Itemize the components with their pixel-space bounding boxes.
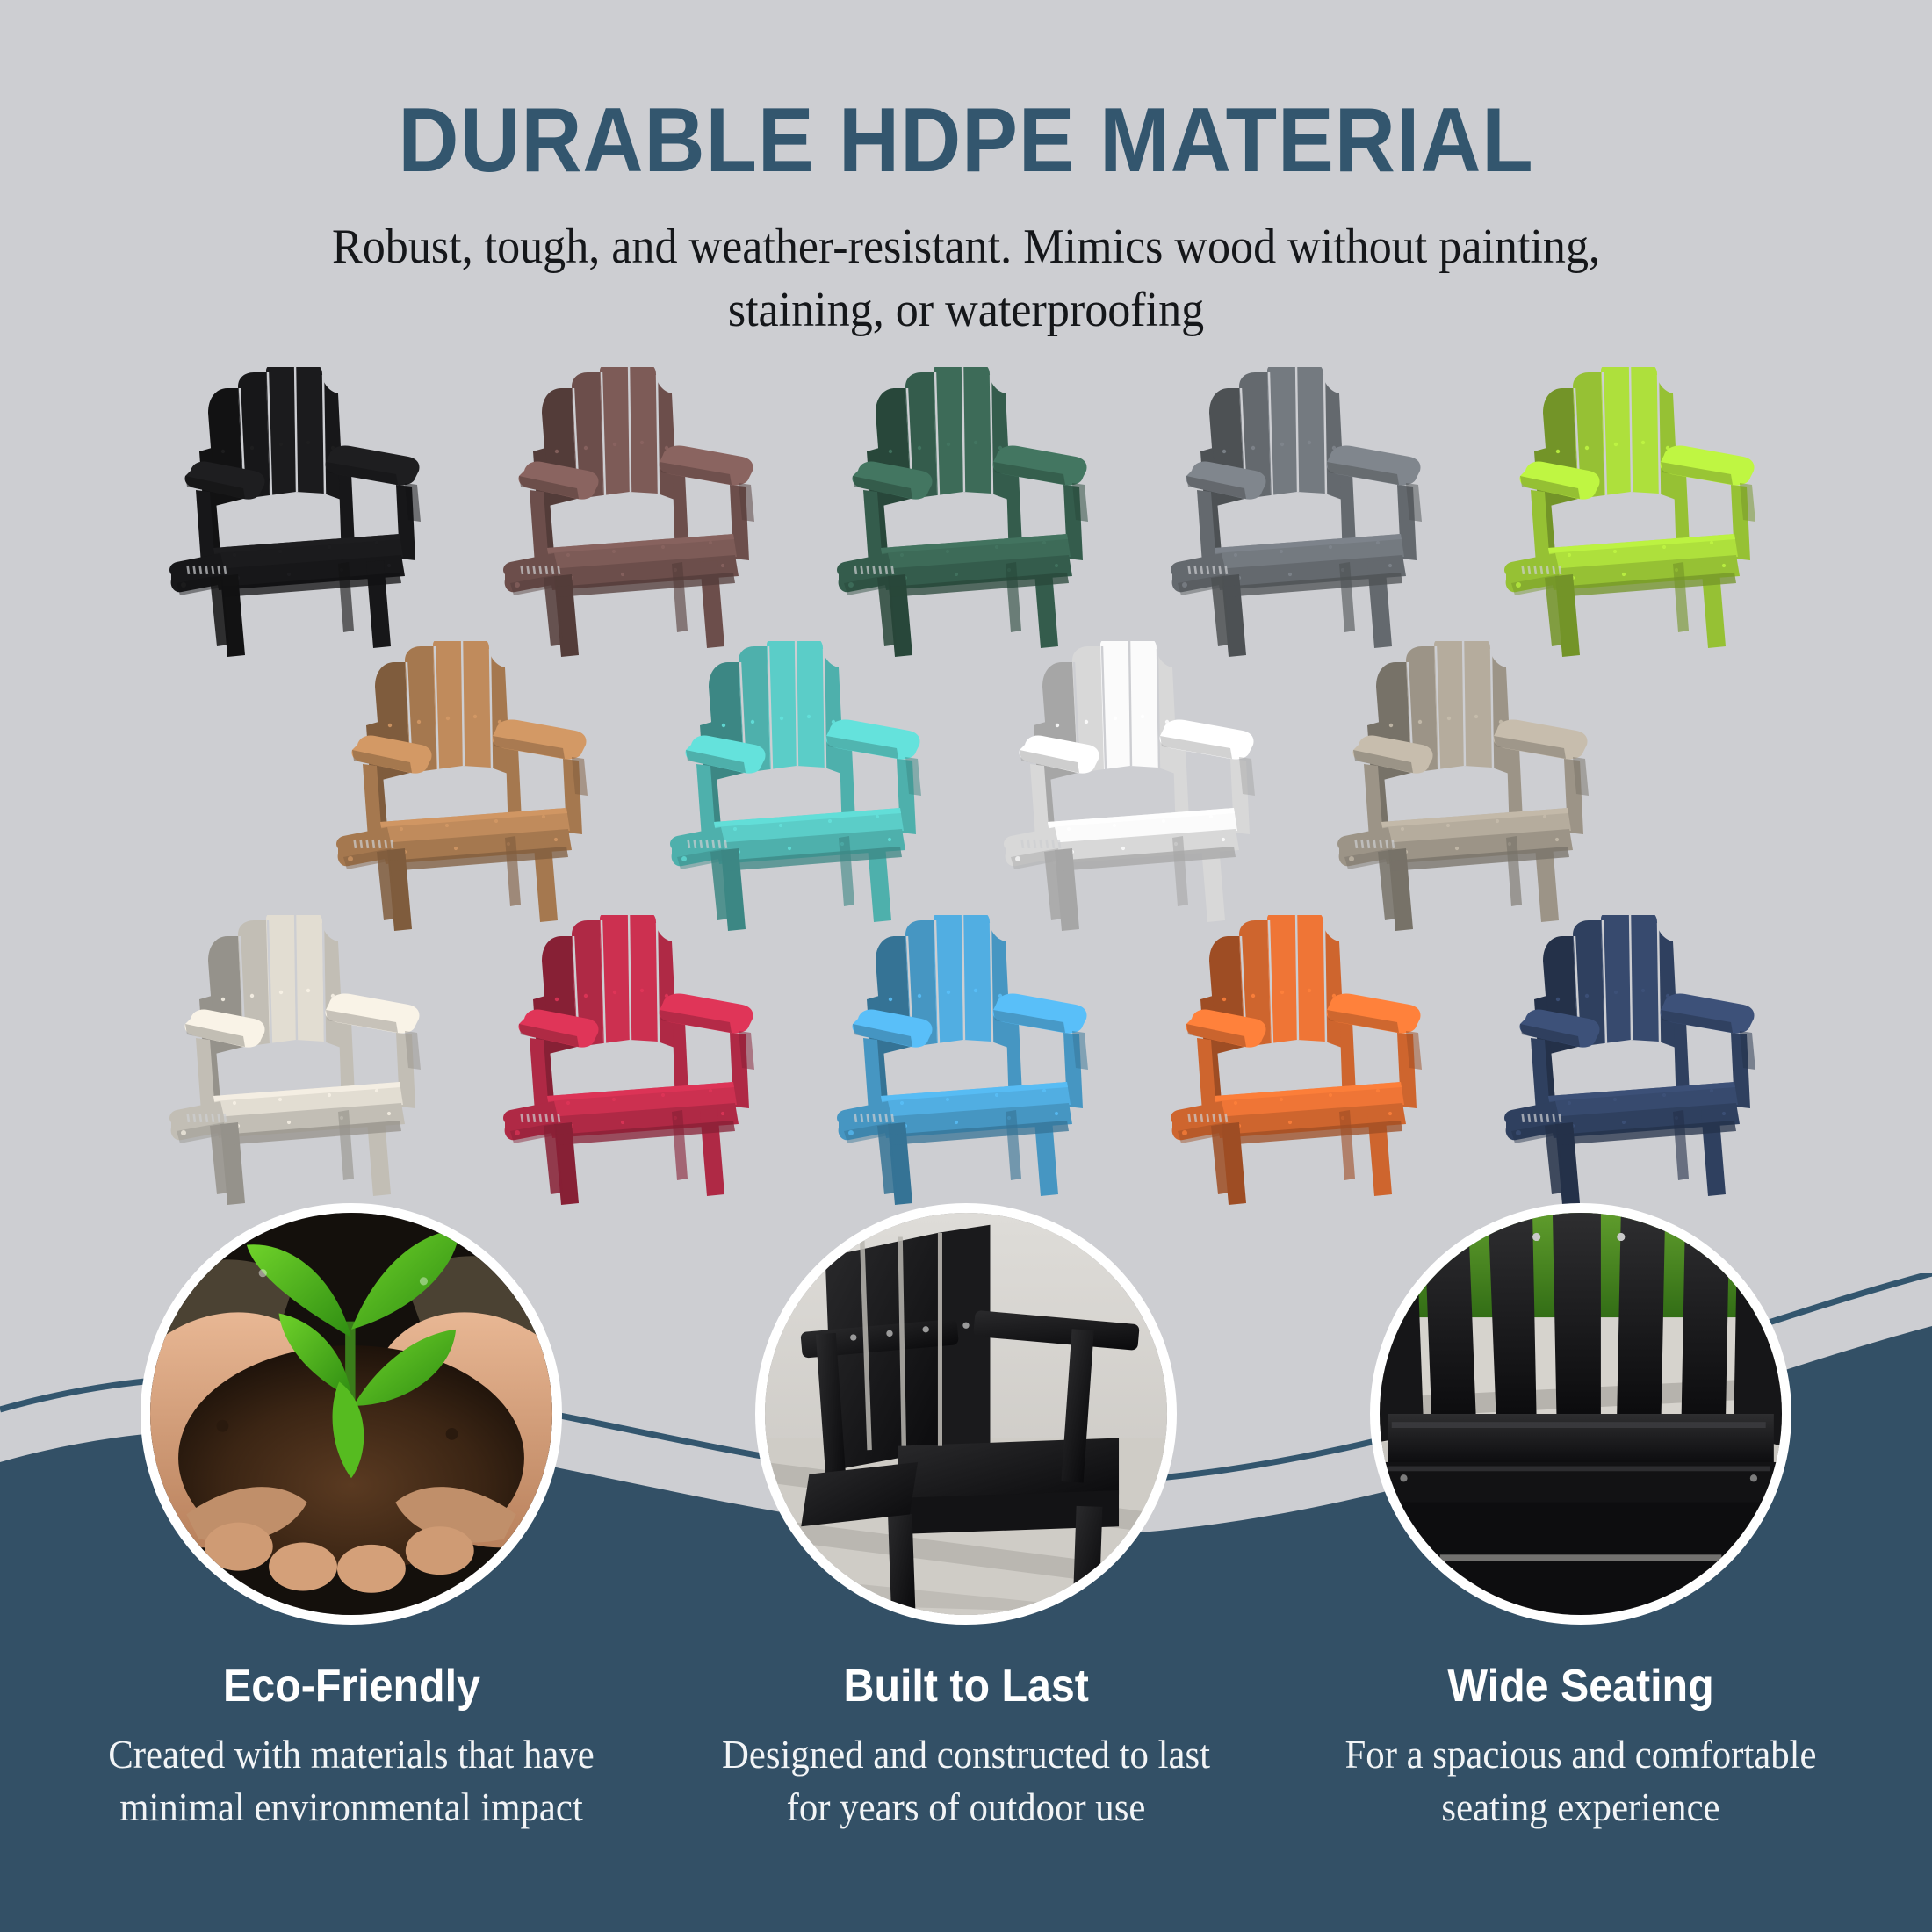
page-subtitle: Robust, tough, and weather-resistant. Mi… [329, 186, 1604, 342]
feature-eco-friendly: Eco-Friendly Created with materials that… [79, 1203, 624, 1834]
feature-title: Wide Seating [1447, 1625, 1713, 1712]
adirondack-chair-icon [157, 915, 440, 1205]
chair-swatch-brown[interactable] [483, 367, 782, 657]
chair-swatch-orange[interactable] [1150, 915, 1449, 1205]
feature-description: Designed and constructed to last for yea… [721, 1712, 1211, 1834]
page-title: DURABLE HDPE MATERIAL [77, 0, 1855, 186]
wide-seat-closeup-illustration [1380, 1213, 1782, 1615]
black-chair-wide-seat-closeup-photo [1370, 1203, 1791, 1625]
chair-swatch-navy-blue[interactable] [1484, 915, 1783, 1205]
chair-row-2 [0, 641, 1932, 931]
feature-built-to-last: Built to Last Designed and constructed t… [694, 1203, 1238, 1834]
adirondack-chair-icon [991, 641, 1274, 931]
adirondack-chair-icon [157, 367, 440, 657]
chair-swatch-light-blue[interactable] [817, 915, 1115, 1205]
feature-title: Eco-Friendly [223, 1625, 480, 1712]
adirondack-chair-icon [1158, 915, 1441, 1205]
chair-swatch-black[interactable] [149, 367, 448, 657]
adirondack-chair-icon [1158, 367, 1441, 657]
feature-title: Built to Last [843, 1625, 1088, 1712]
chair-swatch-turquoise[interactable] [650, 641, 948, 931]
chair-swatch-red[interactable] [483, 915, 782, 1205]
adirondack-chair-icon [825, 915, 1107, 1205]
chair-swatch-ivory[interactable] [149, 915, 448, 1205]
feature-row: Eco-Friendly Created with materials that… [0, 1203, 1932, 1834]
hdpe-material-infographic: DURABLE HDPE MATERIAL Robust, tough, and… [0, 0, 1932, 1932]
hands-holding-seedling-photo [141, 1203, 562, 1625]
chair-swatch-beige[interactable] [1317, 641, 1616, 931]
chair-swatch-teak[interactable] [316, 641, 615, 931]
black-adirondack-chair-patio-photo [755, 1203, 1177, 1625]
feature-description: Created with materials that have minimal… [106, 1712, 596, 1834]
adirondack-chair-icon [1492, 367, 1775, 657]
adirondack-chair-icon [491, 367, 774, 657]
black-chair-on-patio-illustration [765, 1213, 1167, 1615]
chair-swatch-white[interactable] [984, 641, 1282, 931]
adirondack-chair-icon [825, 367, 1107, 657]
adirondack-chair-icon [324, 641, 607, 931]
seedling-illustration [150, 1213, 552, 1615]
features-section: Eco-Friendly Created with materials that… [0, 1203, 1932, 1834]
feature-description: For a spacious and comfortable seating e… [1336, 1712, 1826, 1834]
header: DURABLE HDPE MATERIAL Robust, tough, and… [0, 0, 1932, 342]
adirondack-chair-icon [491, 915, 774, 1205]
chair-swatch-dark-green[interactable] [817, 367, 1115, 657]
adirondack-chair-icon [658, 641, 941, 931]
chair-swatch-gray[interactable] [1150, 367, 1449, 657]
chair-row-1 [0, 367, 1932, 657]
chair-swatch-lime-green[interactable] [1484, 367, 1783, 657]
chair-color-grid [0, 367, 1932, 1205]
chair-row-3 [0, 915, 1932, 1205]
feature-wide-seating: Wide Seating For a spacious and comforta… [1308, 1203, 1853, 1834]
adirondack-chair-icon [1325, 641, 1608, 931]
adirondack-chair-icon [1492, 915, 1775, 1205]
